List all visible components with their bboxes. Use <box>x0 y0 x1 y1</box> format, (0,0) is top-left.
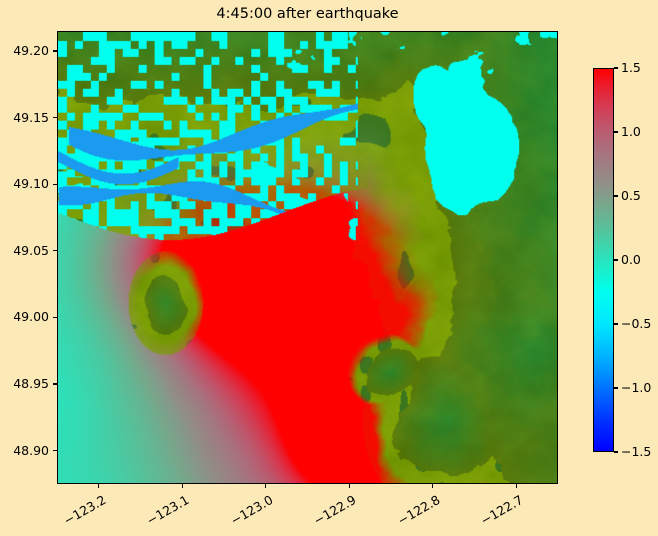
colorbar-tick-label: 0.5 <box>621 188 641 203</box>
x-tick-mark <box>98 484 99 488</box>
y-axis-tick-labels: 48.9048.9549.0049.0549.1049.1549.20 <box>0 0 49 536</box>
colorbar[interactable] <box>593 68 614 452</box>
x-tick-label: −123.1 <box>139 492 192 531</box>
figure-canvas: 4:45:00 after earthquake 48.9048.9549.00… <box>0 0 658 536</box>
y-tick-mark <box>53 250 57 251</box>
y-tick-label: 48.95 <box>1 376 49 391</box>
colorbar-tick-mark <box>614 451 618 452</box>
x-tick-label: −122.9 <box>306 492 359 531</box>
colorbar-tick-label: −0.5 <box>621 316 651 331</box>
colorbar-tick-mark <box>614 131 618 132</box>
x-tick-label: −122.8 <box>390 492 443 531</box>
x-tick-mark <box>349 484 350 488</box>
y-tick-label: 49.10 <box>1 176 49 191</box>
y-tick-mark <box>53 117 57 118</box>
y-tick-label: 49.15 <box>1 110 49 125</box>
y-tick-mark <box>53 383 57 384</box>
colorbar-tick-mark <box>614 195 618 196</box>
map-plot-area[interactable] <box>57 31 558 484</box>
x-tick-label: −122.7 <box>473 492 526 531</box>
y-tick-label: 49.00 <box>1 309 49 324</box>
colorbar-tick-label: 1.5 <box>621 60 641 75</box>
x-tick-mark <box>182 484 183 488</box>
y-tick-label: 49.20 <box>1 43 49 58</box>
x-tick-label: −123.0 <box>223 492 276 531</box>
x-tick-label: −123.2 <box>56 492 109 531</box>
y-tick-mark <box>53 317 57 318</box>
y-tick-mark <box>53 184 57 185</box>
colorbar-tick-mark <box>614 259 618 260</box>
colorbar-tick-mark <box>614 323 618 324</box>
colorbar-tick-label: 1.0 <box>621 124 641 139</box>
x-tick-mark <box>265 484 266 488</box>
y-tick-label: 48.90 <box>1 443 49 458</box>
colorbar-tick-label: −1.0 <box>621 380 651 395</box>
y-tick-label: 49.05 <box>1 243 49 258</box>
colorbar-tick-mark <box>614 67 618 68</box>
colorbar-tick-label: 0.0 <box>621 252 641 267</box>
page-title: 4:45:00 after earthquake <box>57 6 558 22</box>
x-tick-mark <box>516 484 517 488</box>
x-tick-mark <box>432 484 433 488</box>
y-tick-mark <box>53 450 57 451</box>
tsunami-heatmap-image <box>58 32 557 483</box>
y-tick-mark <box>53 50 57 51</box>
colorbar-tick-label: −1.5 <box>621 444 651 459</box>
colorbar-tick-mark <box>614 387 618 388</box>
